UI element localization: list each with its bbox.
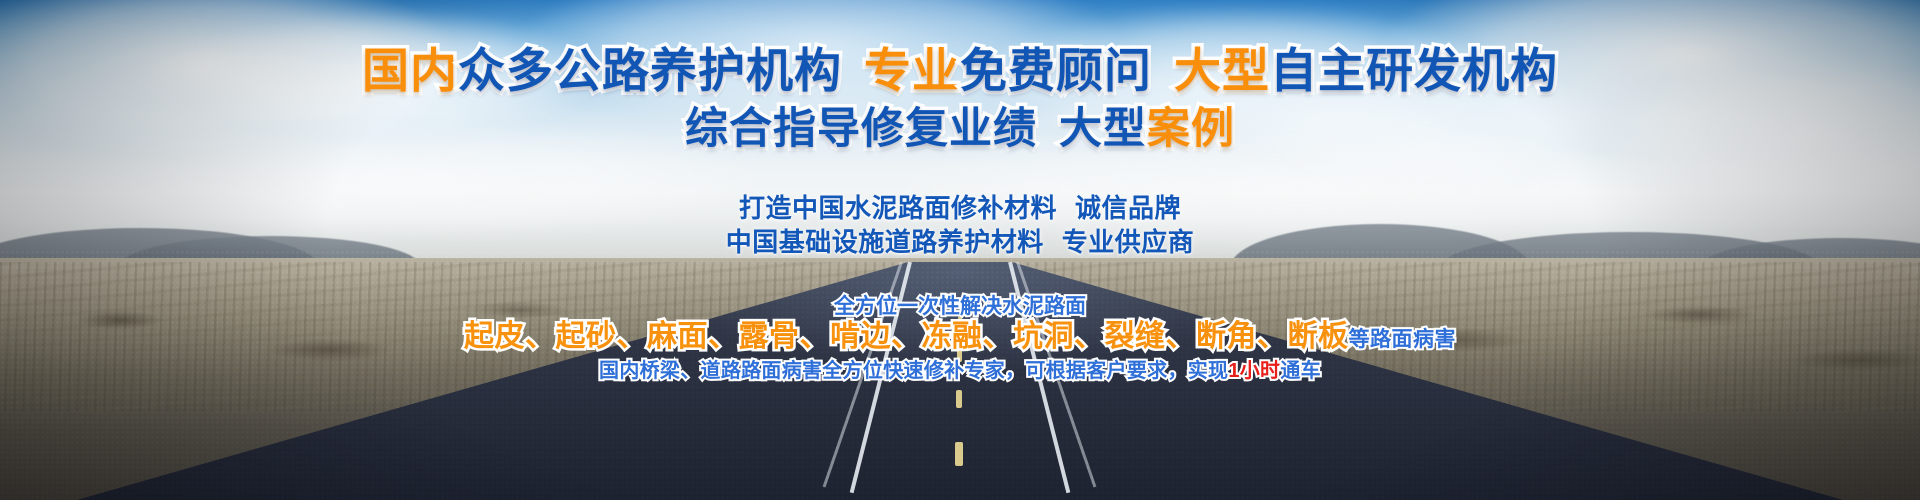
slogan-2b: 专业供应商 xyxy=(1062,227,1195,257)
headline-seg-daxing2: 大型 xyxy=(1059,105,1147,153)
headline-line-1: 国内众多公路养护机构专业免费顾问大型自主研发机构 xyxy=(0,44,1920,98)
headline-seg-zonghe: 综合指导修复业绩 xyxy=(685,105,1037,153)
road-closing-text: 国内桥梁、道路路面病害全方位快速修补专家，可根据客户要求，实现1小时通车 xyxy=(0,358,1920,384)
headline-seg-daxing: 大型 xyxy=(1174,44,1270,97)
disease-items: 起皮、起砂、麻面、露骨、啃边、冻融、坑洞、裂缝、断角、断板 xyxy=(464,320,1349,353)
road-disease-list: 起皮、起砂、麻面、露骨、啃边、冻融、坑洞、裂缝、断角、断板等路面病害 xyxy=(0,318,1920,359)
slogan-2a: 中国基础设施道路养护材料 xyxy=(726,227,1044,257)
road-eyebrow-text: 全方位一次性解决水泥路面 xyxy=(0,294,1920,320)
slogan-line-2: 中国基础设施道路养护材料专业供应商 xyxy=(0,226,1920,258)
slogan-1b: 诚信品牌 xyxy=(1075,193,1181,223)
closing-highlight: 1小时 xyxy=(1228,360,1280,382)
closing-part-a: 国内桥梁、道路路面病害全方位快速修补专家，可根据客户要求，实现 xyxy=(599,360,1228,382)
headline-seg-mianfei: 免费顾问 xyxy=(960,44,1152,97)
promo-banner: 国内众多公路养护机构专业免费顾问大型自主研发机构 综合指导修复业绩大型案例 打造… xyxy=(0,0,1920,500)
closing-part-b: 通车 xyxy=(1280,360,1321,382)
headline-line-2: 综合指导修复业绩大型案例 xyxy=(0,104,1920,154)
headline-seg-zhuanye: 专业 xyxy=(864,44,960,97)
disease-suffix: 等路面病害 xyxy=(1349,328,1457,351)
slogan-line-1: 打造中国水泥路面修补材料诚信品牌 xyxy=(0,192,1920,224)
headline-seg-anli: 案例 xyxy=(1147,105,1235,153)
headline-seg-guonei: 国内 xyxy=(362,44,458,97)
headline-seg-zhongduo: 众多公路养护机构 xyxy=(458,44,842,97)
headline-seg-zizhu: 自主研发机构 xyxy=(1270,44,1558,97)
banner-content: 国内众多公路养护机构专业免费顾问大型自主研发机构 综合指导修复业绩大型案例 打造… xyxy=(0,0,1920,500)
slogan-1a: 打造中国水泥路面修补材料 xyxy=(739,193,1057,223)
